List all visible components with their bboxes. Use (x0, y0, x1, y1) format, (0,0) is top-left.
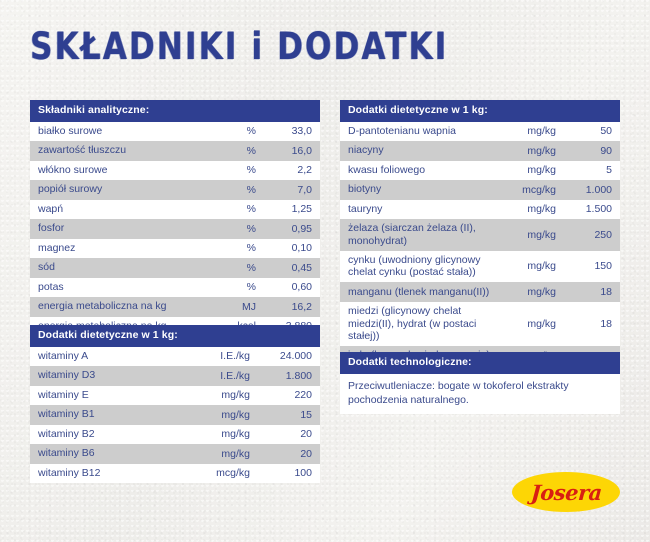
table-row: D-pantotenianu wapniamg/kg50 (340, 122, 620, 142)
table-body-vitamins: witaminy AI.E./kg24.000witaminy D3I.E./k… (30, 347, 320, 484)
table-analytical-constituents: Składniki analityczne: białko surowe%33,… (30, 100, 320, 336)
row-unit: MJ (204, 301, 262, 313)
table-row: niacynymg/kg90 (340, 141, 620, 161)
row-unit: % (204, 242, 262, 254)
row-value: 220 (256, 389, 320, 401)
row-unit: mg/kg (188, 389, 256, 401)
table-row: kwasu foliowegomg/kg5 (340, 161, 620, 181)
row-value: 18 (562, 286, 620, 298)
row-value: 2,2 (262, 164, 320, 176)
row-value: 0,60 (262, 281, 320, 293)
row-label: potas (30, 278, 204, 297)
row-value: 20 (256, 428, 320, 440)
table-row: zawartość tłuszczu%16,0 (30, 141, 320, 161)
row-unit: mg/kg (188, 448, 256, 460)
table-technological-additives: Dodatki technologiczne: Przeciwutleniacz… (340, 352, 620, 414)
row-label: kwasu foliowego (340, 161, 498, 180)
table-row: biotynymcg/kg1.000 (340, 180, 620, 200)
table-dietary-additives: Dodatki dietetyczne w 1 kg: D-pantotenia… (340, 100, 620, 385)
table-row: wapń%1,25 (30, 200, 320, 220)
page-title: SKŁADNIKI i DODATKI (30, 27, 448, 65)
row-value: 15 (256, 409, 320, 421)
row-label: witaminy B6 (30, 444, 188, 463)
row-unit: mcg/kg (188, 467, 256, 479)
row-unit: % (204, 281, 262, 293)
row-label: sód (30, 258, 204, 277)
table-vitamins: Dodatki dietetyczne w 1 kg: witaminy AI.… (30, 325, 320, 483)
josera-logo-text: Josera (530, 482, 602, 503)
row-value: 33,0 (262, 125, 320, 137)
table-row: witaminy B6mg/kg20 (30, 444, 320, 464)
table-row: witaminy AI.E./kg24.000 (30, 347, 320, 367)
row-value: 1,25 (262, 203, 320, 215)
row-unit: % (204, 164, 262, 176)
row-label: witaminy A (30, 347, 188, 366)
row-label: żelaza (siarczan żelaza (II), monohydrat… (340, 219, 498, 251)
row-value: 90 (562, 145, 620, 157)
row-value: 50 (562, 125, 620, 137)
table-row: miedzi (glicynowy chelat miedzi(II), hyd… (340, 302, 620, 346)
row-value: 100 (256, 467, 320, 479)
row-label: miedzi (glicynowy chelat miedzi(II), hyd… (340, 302, 498, 346)
row-unit: % (204, 145, 262, 157)
row-unit: % (204, 125, 262, 137)
table-row: witaminy B1mg/kg15 (30, 405, 320, 425)
table-row: sód%0,45 (30, 258, 320, 278)
table-row: witaminy B12mcg/kg100 (30, 464, 320, 484)
row-label: energia metaboliczna na kg (30, 297, 204, 316)
row-value: 1.500 (562, 203, 620, 215)
row-value: 0,95 (262, 223, 320, 235)
row-unit: % (204, 184, 262, 196)
row-unit: mg/kg (498, 260, 562, 272)
table-row: cynku (uwodniony glicynowy chelat cynku … (340, 251, 620, 283)
row-unit: mg/kg (188, 409, 256, 421)
row-label: witaminy B2 (30, 425, 188, 444)
row-value: 5 (562, 164, 620, 176)
row-unit: mg/kg (498, 145, 562, 157)
row-unit: mg/kg (498, 318, 562, 330)
row-value: 0,10 (262, 242, 320, 254)
table-row: witaminy B2mg/kg20 (30, 425, 320, 445)
table-body-dietary: D-pantotenianu wapniamg/kg50niacynymg/kg… (340, 122, 620, 386)
row-value: 250 (562, 229, 620, 241)
row-label: witaminy B12 (30, 464, 188, 483)
row-label: zawartość tłuszczu (30, 141, 204, 160)
table-row: magnez%0,10 (30, 239, 320, 259)
table-header-analytical: Składniki analityczne: (30, 100, 320, 122)
row-label: D-pantotenianu wapnia (340, 122, 498, 141)
table-header-technological: Dodatki technologiczne: (340, 352, 620, 374)
row-label: włókno surowe (30, 161, 204, 180)
row-label: witaminy B1 (30, 405, 188, 424)
table-row: fosfor%0,95 (30, 219, 320, 239)
row-unit: I.E./kg (188, 370, 256, 382)
row-label: witaminy E (30, 386, 188, 405)
row-value: 16,0 (262, 145, 320, 157)
row-value: 1.800 (256, 370, 320, 382)
row-unit: I.E./kg (188, 350, 256, 362)
row-label: niacyny (340, 141, 498, 160)
table-row: witaminy D3I.E./kg1.800 (30, 366, 320, 386)
row-unit: % (204, 262, 262, 274)
table-row: białko surowe%33,0 (30, 122, 320, 142)
row-value: 150 (562, 260, 620, 272)
row-unit: mg/kg (498, 229, 562, 241)
row-label: popiół surowy (30, 180, 204, 199)
row-unit: % (204, 223, 262, 235)
table-header-dietary: Dodatki dietetyczne w 1 kg: (340, 100, 620, 122)
row-unit: mg/kg (498, 125, 562, 137)
row-value: 1.000 (562, 184, 620, 196)
row-label: magnez (30, 239, 204, 258)
table-row: włókno surowe%2,2 (30, 161, 320, 181)
row-value: 20 (256, 448, 320, 460)
table-row: potas%0,60 (30, 278, 320, 298)
row-unit: mcg/kg (498, 184, 562, 196)
row-label: wapń (30, 200, 204, 219)
row-value: 7,0 (262, 184, 320, 196)
row-value: 24.000 (256, 350, 320, 362)
row-label: cynku (uwodniony glicynowy chelat cynku … (340, 251, 498, 283)
row-value: 0,45 (262, 262, 320, 274)
table-row: witaminy Emg/kg220 (30, 386, 320, 406)
row-unit: mg/kg (498, 286, 562, 298)
row-unit: mg/kg (188, 428, 256, 440)
row-value: 16,2 (262, 301, 320, 313)
table-row: manganu (tlenek manganu(II))mg/kg18 (340, 282, 620, 302)
row-unit: mg/kg (498, 203, 562, 215)
row-label: tauryny (340, 200, 498, 219)
josera-logo: Josera (512, 472, 620, 512)
row-unit: % (204, 203, 262, 215)
row-label: witaminy D3 (30, 366, 188, 385)
table-row: popiół surowy%7,0 (30, 180, 320, 200)
table-body-analytical: białko surowe%33,0zawartość tłuszczu%16,… (30, 122, 320, 337)
table-header-vitamins: Dodatki dietetyczne w 1 kg: (30, 325, 320, 347)
row-label: białko surowe (30, 122, 204, 141)
table-row: energia metaboliczna na kgMJ16,2 (30, 297, 320, 317)
row-label: fosfor (30, 219, 204, 238)
row-label: biotyny (340, 180, 498, 199)
row-value: 18 (562, 318, 620, 330)
row-label: manganu (tlenek manganu(II)) (340, 283, 498, 302)
technological-additives-note: Przeciwutleniacze: bogate w tokoferol ek… (340, 374, 620, 414)
row-unit: mg/kg (498, 164, 562, 176)
table-row: żelaza (siarczan żelaza (II), monohydrat… (340, 219, 620, 251)
table-row: taurynymg/kg1.500 (340, 200, 620, 220)
